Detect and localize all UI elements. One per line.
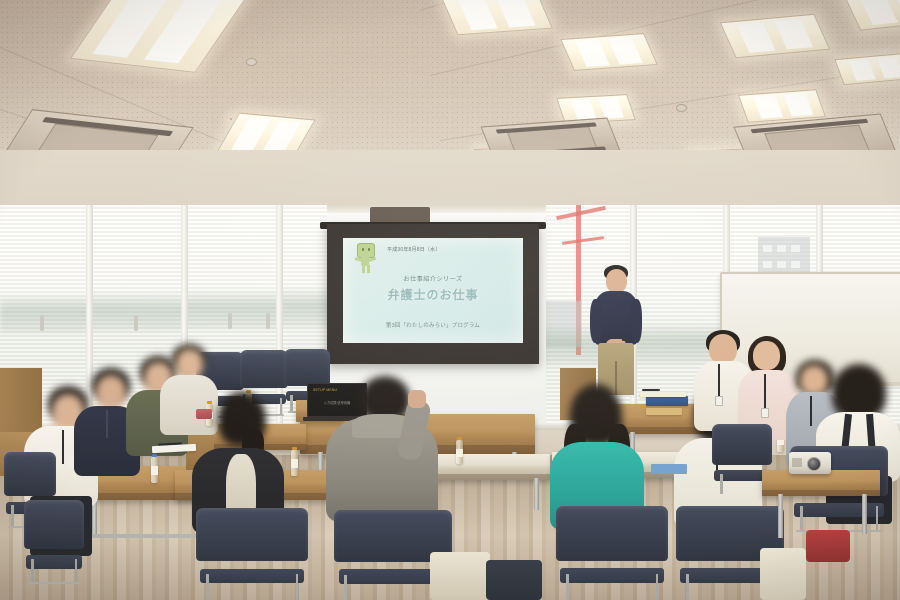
lanyard-icon (718, 364, 720, 398)
presentation-slide: 平成30年8月8日（水） お仕事紹介シリーズ 弁護士のお仕事 第3回「わたしのみ… (343, 238, 523, 343)
slide-footer: 第3回「わたしのみらい」プログラム (343, 321, 523, 329)
attendee-chair[interactable] (24, 500, 84, 584)
ceiling-light (834, 53, 900, 85)
lanyard-icon (764, 374, 766, 410)
attendee-chair[interactable] (556, 506, 668, 600)
tote-bag[interactable] (760, 548, 806, 600)
tote-bag[interactable] (430, 552, 490, 600)
presenter (588, 265, 644, 395)
slide-series-label: お仕事紹介シリーズ (343, 274, 523, 283)
presenter-arm (590, 299, 602, 343)
ceiling-light (738, 89, 826, 123)
ceiling-light (560, 33, 657, 71)
smoke-detector-icon (246, 58, 257, 66)
projector-lens-icon (807, 457, 821, 471)
presenter-head (606, 269, 627, 293)
projection-screen: 平成30年8月8日（水） お仕事紹介シリーズ 弁護士のお仕事 第3回「わたしのみ… (327, 224, 539, 364)
hand-icon (408, 390, 426, 408)
mascot-icon (355, 243, 377, 273)
desk-projector[interactable] (789, 452, 831, 474)
water-bottle[interactable] (456, 440, 463, 464)
water-bottle[interactable] (151, 457, 158, 483)
slide-title: 弁護士のお仕事 (343, 286, 523, 303)
blue-folder[interactable] (651, 464, 687, 474)
attendee-chair[interactable] (196, 508, 308, 600)
window-handle[interactable] (228, 313, 232, 329)
smoke-detector-icon (676, 104, 687, 112)
presenter-arm (630, 299, 642, 343)
red-bag[interactable] (806, 530, 850, 562)
window-handle[interactable] (134, 315, 138, 331)
wristwatch-icon (622, 337, 629, 341)
id-badge (715, 396, 723, 406)
window-handle[interactable] (266, 313, 270, 329)
water-bottle[interactable] (291, 450, 298, 476)
ceiling-light (230, 118, 232, 120)
backpack[interactable] (486, 560, 542, 600)
id-badge (761, 408, 769, 418)
window-handle[interactable] (40, 315, 44, 331)
meeting-room-photo: 平成30年8月8日（水） お仕事紹介シリーズ 弁護士のお仕事 第3回「わたしのみ… (0, 0, 900, 600)
slide-date: 平成30年8月8日（水） (387, 246, 441, 253)
